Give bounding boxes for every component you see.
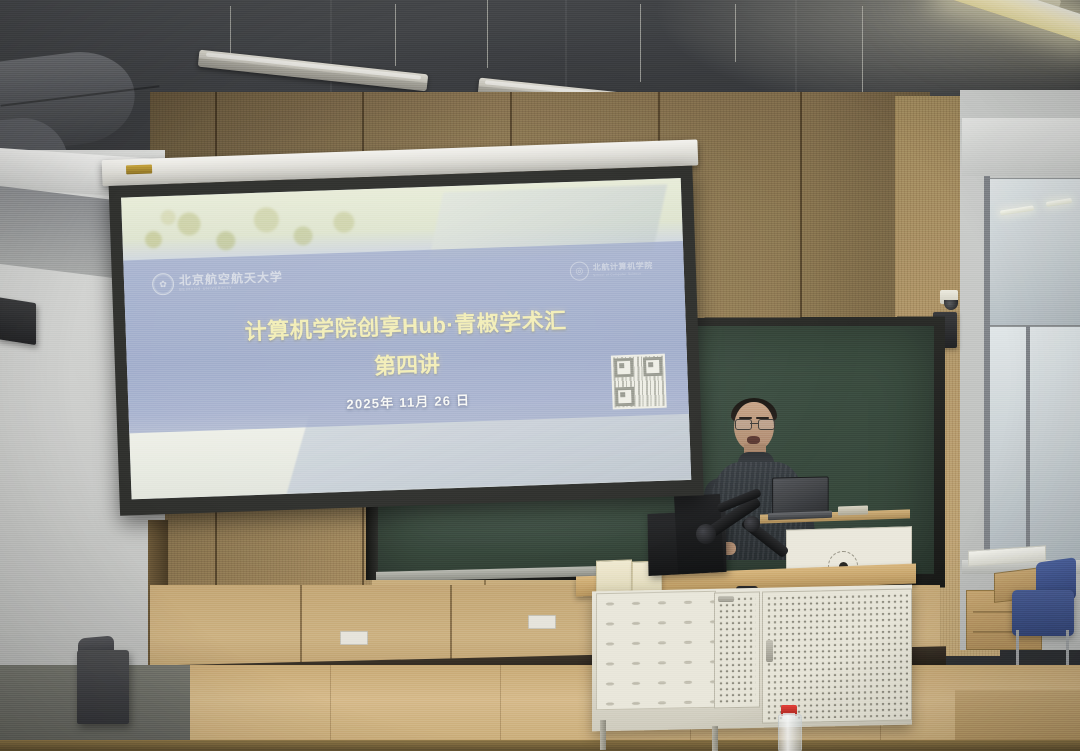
blue-chair bbox=[1012, 590, 1074, 636]
light-wire bbox=[487, 0, 488, 68]
monitor-arm-joint[interactable] bbox=[744, 516, 760, 532]
beihang-name-cn: 北京航空航天大学 bbox=[179, 271, 283, 287]
beihang-university-logo: ✿ 北京航空航天大学 BEIHANG UNIVERSITY bbox=[152, 269, 284, 296]
scse-logo: ◎ 北航计算机学院 School of Computer Science bbox=[570, 259, 654, 281]
scse-name-cn: 北航计算机学院 bbox=[593, 262, 653, 272]
wall-outlet[interactable] bbox=[340, 631, 368, 645]
qr-code[interactable] bbox=[610, 354, 666, 410]
projection-screen-assembly: ✿ 北京航空航天大学 BEIHANG UNIVERSITY ◎ 北航计算机学院 … bbox=[108, 148, 705, 518]
podium-vent-panel bbox=[596, 591, 716, 711]
window-mullion bbox=[1026, 326, 1030, 562]
chair-leg bbox=[1016, 630, 1019, 668]
glasses-icon bbox=[735, 419, 773, 428]
light-wire bbox=[862, 6, 863, 98]
wall-outlet[interactable] bbox=[528, 615, 556, 629]
beihang-crest-icon: ✿ bbox=[152, 273, 175, 296]
presentation-slide: ✿ 北京航空航天大学 BEIHANG UNIVERSITY ◎ 北航计算机学院 … bbox=[121, 178, 691, 499]
wall-speaker-icon bbox=[0, 297, 36, 345]
window-header-panel bbox=[962, 118, 1080, 176]
podium-cabinet-door-large[interactable] bbox=[762, 588, 912, 723]
chair-leg bbox=[1066, 630, 1069, 668]
podium-door-latch[interactable] bbox=[718, 596, 734, 602]
beihang-name-en: BEIHANG UNIVERSITY bbox=[179, 285, 283, 292]
podium-leg bbox=[712, 726, 718, 751]
monitor-arm-joint[interactable] bbox=[696, 524, 716, 544]
brand-badge-icon bbox=[126, 164, 152, 174]
corridor-window-lower bbox=[988, 326, 1080, 564]
lecture-hall-photo: ✿ 北京航空航天大学 BEIHANG UNIVERSITY ◎ 北航计算机学院 … bbox=[0, 0, 1080, 751]
podium-cabinet-door-small[interactable] bbox=[714, 592, 760, 709]
stage-edge bbox=[0, 740, 1080, 751]
podium-door-handle[interactable] bbox=[766, 640, 773, 662]
scse-name-en: School of Computer Science bbox=[593, 272, 653, 277]
podium-leg bbox=[600, 720, 606, 750]
window-mullion bbox=[984, 176, 990, 566]
screen-border: ✿ 北京航空航天大学 BEIHANG UNIVERSITY ◎ 北航计算机学院 … bbox=[109, 166, 704, 516]
light-wire bbox=[640, 4, 641, 82]
light-wire bbox=[395, 4, 396, 66]
light-wire bbox=[735, 4, 736, 62]
cream-box bbox=[596, 559, 632, 592]
trash-bin bbox=[77, 650, 129, 724]
scse-mark-icon: ◎ bbox=[570, 261, 590, 281]
notebook bbox=[838, 505, 868, 515]
presenter-mouth bbox=[747, 436, 760, 444]
water-bottle bbox=[778, 714, 802, 751]
